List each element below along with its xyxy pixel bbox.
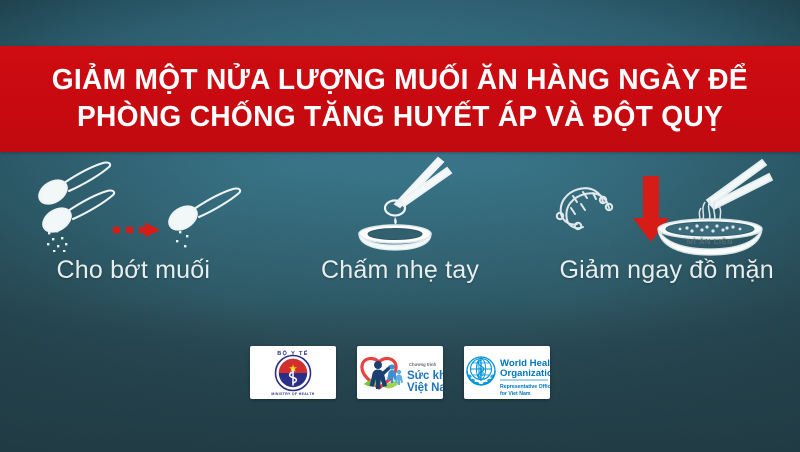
suc-khoe-line-1: Sức khỏe bbox=[407, 370, 443, 382]
step-dip-lightly: Chấm nhẹ tay bbox=[267, 160, 534, 300]
suc-khoe-line-2: Việt Nam bbox=[407, 382, 443, 394]
two-spoons-salt-svg bbox=[23, 160, 243, 252]
salt-grains-right bbox=[176, 231, 188, 247]
who-emblem bbox=[467, 357, 495, 385]
two-spoons-salt-icon bbox=[0, 160, 267, 252]
salt-grains-left bbox=[47, 230, 67, 252]
who-logo: World Health Organization Representative… bbox=[464, 346, 550, 399]
steps-row: Cho bớt muối bbox=[0, 160, 800, 300]
step-caption: Giảm ngay đồ mặn bbox=[559, 256, 773, 285]
logo-card-moh: BỘ Y TẾ MINISTRY OF HEALTH bbox=[250, 346, 336, 399]
logo-card-suc-khoe: Chương trình Sức khỏe Việt Nam bbox=[357, 346, 443, 399]
sausages-shape bbox=[556, 188, 611, 229]
logo-card-who: World Health Organization Representative… bbox=[464, 346, 550, 399]
who-sub-line-1: Representative Office bbox=[500, 384, 550, 390]
moh-vietnam-logo: BỘ Y TẾ MINISTRY OF HEALTH bbox=[250, 346, 336, 399]
moh-bottom-text: MINISTRY OF HEALTH bbox=[271, 392, 314, 396]
suc-khoe-kicker: Chương trình bbox=[409, 362, 437, 367]
step-caption: Chấm nhẹ tay bbox=[321, 256, 479, 285]
step-reduce-salt-spoon: Cho bớt muối bbox=[0, 160, 267, 300]
bowl-chopsticks bbox=[707, 160, 772, 209]
step-caption: Cho bớt muối bbox=[57, 256, 211, 285]
chopsticks-sauce-dish-icon bbox=[267, 160, 534, 252]
sausages-bowl-svg: MÌ ĂN LIỀN bbox=[547, 156, 787, 256]
headline-banner: GIẢM MỘT NỬA LƯỢNG MUỐI ĂN HÀNG NGÀY ĐỂ … bbox=[0, 46, 800, 152]
headline-line-2: PHÒNG CHỐNG TĂNG HUYẾT ÁP VÀ ĐỘT QUỴ bbox=[77, 103, 723, 133]
headline-line-1: GIẢM MỘT NỬA LƯỢNG MUỐI ĂN HÀNG NGÀY ĐỂ bbox=[52, 66, 748, 96]
dashed-right-arrow-icon bbox=[113, 223, 160, 238]
chopsticks-dish-svg bbox=[325, 156, 475, 256]
sauce-dish bbox=[359, 225, 431, 250]
step-reduce-salty-food: MÌ ĂN LIỀN Giảm ngay đồ mặn bbox=[533, 160, 800, 300]
who-sub-line-2: for Viet Nam bbox=[500, 391, 531, 397]
suc-khoe-viet-nam-logo: Chương trình Sức khỏe Việt Nam bbox=[357, 346, 443, 399]
logo-row: BỘ Y TẾ MINISTRY OF HEALTH bbox=[0, 346, 800, 399]
noodle-brand-text: MÌ ĂN LIỀN bbox=[686, 236, 732, 246]
sausages-noodle-bowl-icon: MÌ ĂN LIỀN bbox=[533, 160, 800, 252]
noodle-bowl: MÌ ĂN LIỀN bbox=[658, 219, 762, 255]
who-line-2: Organization bbox=[500, 368, 550, 379]
poster-root: GIẢM MỘT NỬA LƯỢNG MUỐI ĂN HÀNG NGÀY ĐỂ … bbox=[0, 0, 800, 452]
